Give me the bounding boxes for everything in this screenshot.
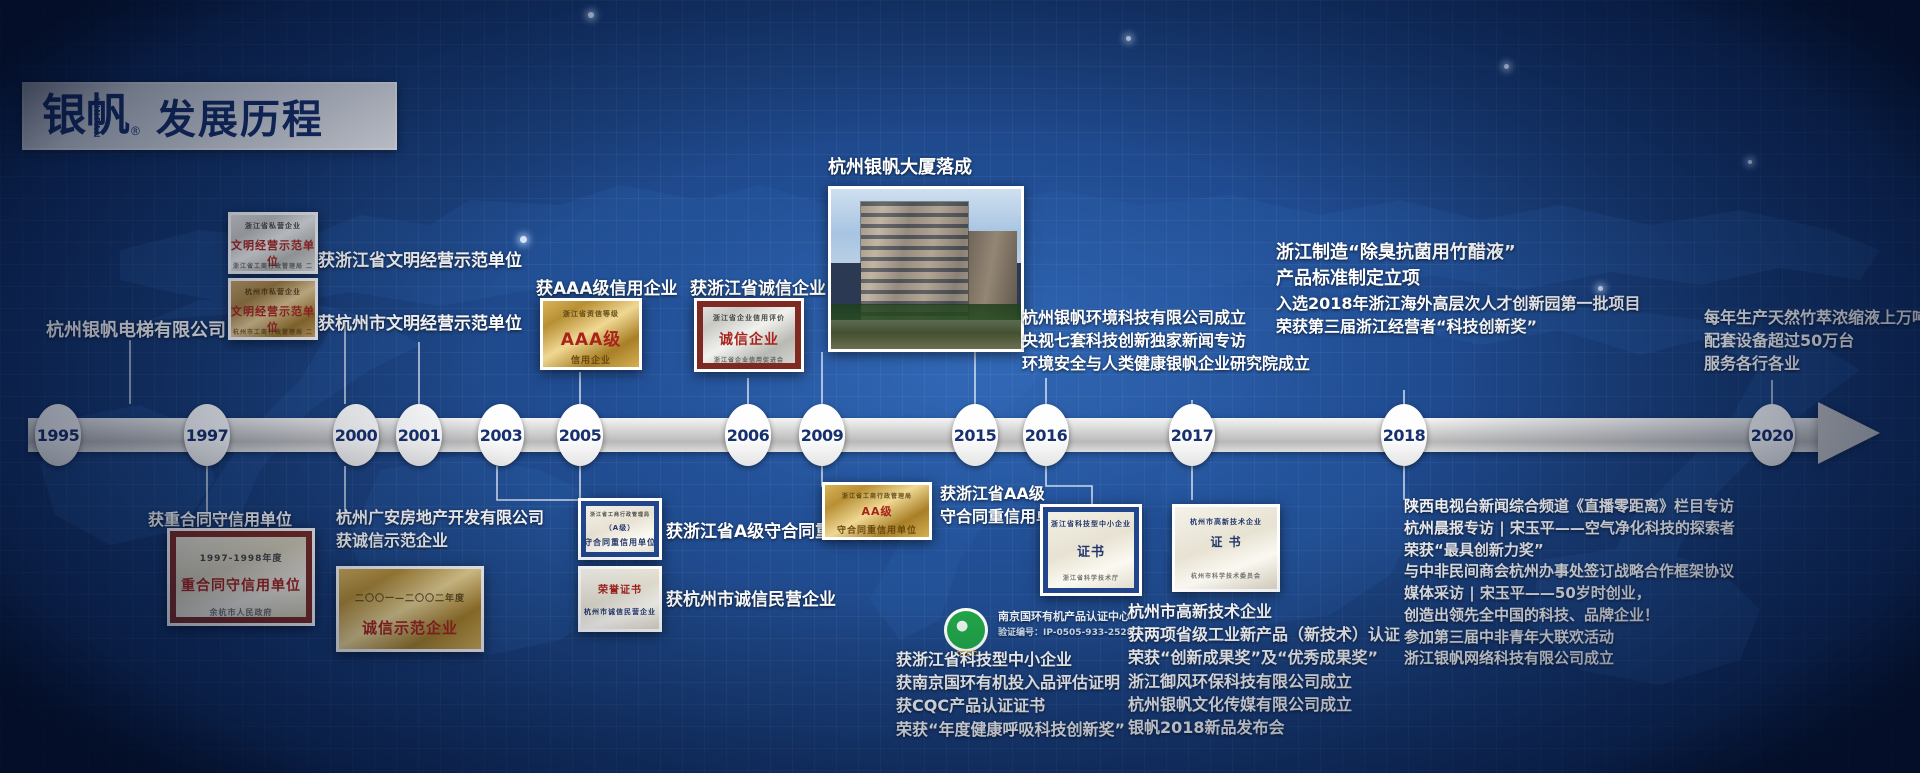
plaque-2000-lower: 二〇〇一—二〇〇二年度 诚信示范企业 xyxy=(336,566,484,652)
plaque-2003-a: 浙江省工商行政管理局 （A级） 守合同重信用单位 xyxy=(578,498,662,560)
text-line: 荣获“创新成果奖”及“优秀成果奖” xyxy=(1128,646,1400,669)
ofdc-cert-number: 验证编号：IP-0505-933-2528 xyxy=(998,625,1133,638)
plaque-2005: 浙江省资信等级 AAA级 信用企业 xyxy=(540,298,642,370)
text-line: 服务各行各业 xyxy=(1704,352,1920,375)
year-node-2009[interactable]: 2009 xyxy=(799,404,845,466)
year-node-2020[interactable]: 2020 xyxy=(1749,404,1795,466)
milestone-2000-label: 获浙江省文明经营示范单位 xyxy=(318,249,522,274)
text-line: 央视七套科技创新独家新闻专访 xyxy=(1022,329,1310,352)
plaque-line1: 1997-1998年度 xyxy=(170,551,312,564)
plaque-1997: 1997-1998年度 重合同守信用单位 余杭市人民政府 xyxy=(167,528,315,626)
plaque-line2: 诚信示范企业 xyxy=(339,617,481,638)
certificate-2016: 浙江省科技型中小企业 证书 浙江省科学技术厅 xyxy=(1040,504,1142,596)
year-node-1995[interactable]: 1995 xyxy=(35,404,81,466)
plaque-surface xyxy=(581,569,659,629)
cert-line1: 杭州市高新技术企业 xyxy=(1175,517,1277,527)
year-label: 2017 xyxy=(1171,426,1214,445)
year-node-2016[interactable]: 2016 xyxy=(1023,404,1069,466)
year-label: 2006 xyxy=(727,426,770,445)
text-line: 荣获“年度健康呼吸科技创新奖” xyxy=(896,718,1125,741)
year-node-2005[interactable]: 2005 xyxy=(557,404,603,466)
photo-ground xyxy=(831,320,1021,349)
year-node-1997[interactable]: 1997 xyxy=(184,404,230,466)
milestone-2000-lower-label: 杭州广安房地产开发有限公司 获诚信示范企业 xyxy=(336,506,544,552)
milestone-2020-block: 每年生产天然竹萃浓缩液上万吨 配套设备超过50万台 服务各行各业 xyxy=(1704,306,1920,376)
text-line: 获诚信示范企业 xyxy=(336,529,544,552)
text-line: 杭州晨报专访 | 宋玉平——空气净化科技的探索者 xyxy=(1404,518,1735,540)
text-line: 银帆2018新品发布会 xyxy=(1128,716,1400,739)
spark-icon xyxy=(588,12,594,18)
text-line: 获CQC产品认证证书 xyxy=(896,694,1125,717)
plaque-line2: 杭州市诚信民营企业 xyxy=(581,607,659,617)
year-node-2000[interactable]: 2000 xyxy=(333,404,379,466)
text-line: 配套设备超过50万台 xyxy=(1704,329,1920,352)
year-label: 2000 xyxy=(335,426,378,445)
year-node-2003[interactable]: 2003 xyxy=(478,404,524,466)
ofdc-leaf-mark xyxy=(953,617,979,643)
milestone-1995-label: 杭州银帆电梯有限公司 xyxy=(46,318,226,344)
milestone-2003-label-b: 获杭州市诚信民营企业 xyxy=(666,588,836,613)
text-line: 获南京国环有机投入品评估证明 xyxy=(896,671,1125,694)
milestone-2017-lower-block: 杭州市高新技术企业 获两项省级工业新产品（新技术）认证 荣获“创新成果奖”及“优… xyxy=(1128,600,1400,739)
plaque-line1: 浙江省工商行政管理局 xyxy=(825,491,929,500)
brand-characters: 银帆 xyxy=(42,94,130,138)
year-label: 2001 xyxy=(398,426,441,445)
plaque-line2: 重合同守信用单位 xyxy=(170,575,312,595)
text-line: 杭州市高新技术企业 xyxy=(1128,600,1400,623)
year-label: 1997 xyxy=(186,426,229,445)
page-title: 发展历程 xyxy=(156,87,324,145)
cert-line1: 浙江省科技型中小企业 xyxy=(1043,519,1139,529)
text-line: 媒体采访 | 宋玉平——50岁时创业， xyxy=(1404,583,1735,605)
milestone-2016-block: 获浙江省科技型中小企业 获南京国环有机投入品评估证明 获CQC产品认证证书 荣获… xyxy=(896,648,1125,741)
text-line: 荣获“最具创新力奖” xyxy=(1404,540,1735,562)
plaque-2006: 浙江省企业信用评价 诚信企业 浙江省企业信用促进会 xyxy=(694,298,804,372)
timeline-arrow-head-icon xyxy=(1818,402,1880,464)
text-line: 杭州广安房地产开发有限公司 xyxy=(336,506,544,529)
plaque-line3: 信用企业 xyxy=(543,353,639,366)
year-node-2001[interactable]: 2001 xyxy=(396,404,442,466)
spark-icon xyxy=(1748,160,1752,164)
building-photo-art xyxy=(831,189,1021,349)
plaque-line3: 余杭市人民政府 xyxy=(170,607,312,618)
milestone-2018-block: 陕西电视台新闻综合频道《直播零距离》栏目专访 杭州晨报专访 | 宋玉平——空气净… xyxy=(1404,496,1735,670)
text-line: 荣获第三届浙江经营者“科技创新奖” xyxy=(1276,315,1641,338)
year-label: 2015 xyxy=(954,426,997,445)
plaque-2000-upper: 浙江省私营企业 文明经营示范单位 浙江省工商行政管理局 二〇〇〇年三月 xyxy=(228,212,318,274)
year-label: 2018 xyxy=(1383,426,1426,445)
year-label: 2016 xyxy=(1025,426,1068,445)
ofdc-organic-certification-icon xyxy=(944,608,988,652)
ofdc-cert-center-name: 南京国环有机产品认证中心 xyxy=(998,608,1130,624)
year-node-2006[interactable]: 2006 xyxy=(725,404,771,466)
milestone-2015-block: 杭州银帆环境科技有限公司成立 央视七套科技创新独家新闻专访 环境安全与人类健康银… xyxy=(1022,306,1310,376)
text-line: 产品标准制定立项 xyxy=(1276,266,1641,292)
cert-line3: 浙江省科学技术厅 xyxy=(1043,573,1139,582)
text-line: 创造出领先全中国的科技、品牌企业！ xyxy=(1404,605,1735,627)
plaque-line3: 守合同重信用单位 xyxy=(825,523,929,536)
year-label: 2020 xyxy=(1751,426,1794,445)
milestone-2009-headline: 杭州银帆大厦落成 xyxy=(828,155,972,181)
plaque-line1: 浙江省私营企业 xyxy=(231,221,315,231)
plaque-line1: 二〇〇一—二〇〇二年度 xyxy=(339,591,481,604)
text-line: 每年生产天然竹萃浓缩液上万吨 xyxy=(1704,306,1920,329)
text-line: 入选2018年浙江海外高层次人才创新园第一批项目 xyxy=(1276,292,1641,315)
text-line: 获浙江省AA级 xyxy=(940,482,1068,505)
plaque-line3: 浙江省工商行政管理局 二〇〇〇年三月 xyxy=(231,261,315,274)
plaque-line2: （A级） xyxy=(581,523,659,533)
cert-line3: 杭州市科学技术委员会 xyxy=(1175,571,1277,580)
plaque-line3: 浙江省企业信用促进会 xyxy=(697,355,801,364)
page-title-badge: 银帆 YINFAN ® 发展历程 xyxy=(22,82,397,150)
spark-icon xyxy=(1126,36,1131,41)
cert-line2: 证书 xyxy=(1043,541,1139,560)
year-label: 2009 xyxy=(801,426,844,445)
text-line: 浙江制造“除臭抗菌用竹醋液” xyxy=(1276,240,1641,266)
text-line: 杭州银帆文化传媒有限公司成立 xyxy=(1128,693,1400,716)
plaque-2003-b: 荣誉证书 杭州市诚信民营企业 xyxy=(578,566,662,632)
plaque-line2: AAA级 xyxy=(543,325,639,350)
plaque-line2: 诚信企业 xyxy=(697,329,801,349)
timeline-axis: 1995 1997 2000 2001 2003 2005 2006 2009 … xyxy=(0,404,1920,466)
milestone-2001-label: 获杭州市文明经营示范单位 xyxy=(318,312,522,337)
plaque-line1: 浙江省工商行政管理局 xyxy=(581,511,659,518)
year-node-2017[interactable]: 2017 xyxy=(1169,404,1215,466)
text-line: 获两项省级工业新产品（新技术）认证 xyxy=(1128,623,1400,646)
text-line: 参加第三届中非青年大联欢活动 xyxy=(1404,627,1735,649)
year-label: 2003 xyxy=(480,426,523,445)
milestone-2017-top-block: 浙江制造“除臭抗菌用竹醋液” 产品标准制定立项 入选2018年浙江海外高层次人才… xyxy=(1276,240,1641,339)
text-line: 杭州银帆环境科技有限公司成立 xyxy=(1022,306,1310,329)
text-line: 浙江御风环保科技有限公司成立 xyxy=(1128,670,1400,693)
year-node-2015[interactable]: 2015 xyxy=(952,404,998,466)
year-label: 1995 xyxy=(37,426,80,445)
text-line: 与中非民间商会杭州办事处签订战略合作框架协议 xyxy=(1404,561,1735,583)
text-line: 陕西电视台新闻综合频道《直播零距离》栏目专访 xyxy=(1404,496,1735,518)
plaque-line3: 杭州市工商行政管理局 二〇〇一年 xyxy=(231,327,315,340)
plaque-line1: 荣誉证书 xyxy=(581,581,659,596)
text-line: 环境安全与人类健康银帆企业研究院成立 xyxy=(1022,352,1310,375)
plaque-line1: 浙江省资信等级 xyxy=(543,309,639,319)
spark-icon xyxy=(520,236,527,243)
infographic-canvas: 银帆 YINFAN ® 发展历程 1995 1997 xyxy=(0,0,1920,773)
year-node-2018[interactable]: 2018 xyxy=(1381,404,1427,466)
brand-logo: 银帆 YINFAN ® xyxy=(42,94,140,138)
text-line: 浙江银帆网络科技有限公司成立 xyxy=(1404,648,1735,670)
plaque-2009-lower: 浙江省工商行政管理局 AA级 守合同重信用单位 xyxy=(822,482,932,540)
plaque-line3: 守合同重信用单位 xyxy=(581,537,659,548)
text-line: 获浙江省科技型中小企业 xyxy=(896,648,1125,671)
brand-pinyin: YINFAN xyxy=(92,98,100,139)
plaque-line2: AA级 xyxy=(825,503,929,519)
year-label: 2005 xyxy=(559,426,602,445)
spark-icon xyxy=(1504,64,1509,69)
plaque-2001: 杭州市私营企业 文明经营示范单位 杭州市工商行政管理局 二〇〇一年 xyxy=(228,278,318,340)
plaque-line1: 浙江省企业信用评价 xyxy=(697,313,801,323)
photo-yinfan-building xyxy=(828,186,1024,352)
timeline-bar xyxy=(28,418,1828,452)
registered-mark-icon: ® xyxy=(131,124,140,138)
plaque-line1: 杭州市私营企业 xyxy=(231,287,315,297)
certificate-2017: 杭州市高新技术企业 证 书 杭州市科学技术委员会 xyxy=(1172,504,1280,592)
cert-line2: 证 书 xyxy=(1175,533,1277,550)
